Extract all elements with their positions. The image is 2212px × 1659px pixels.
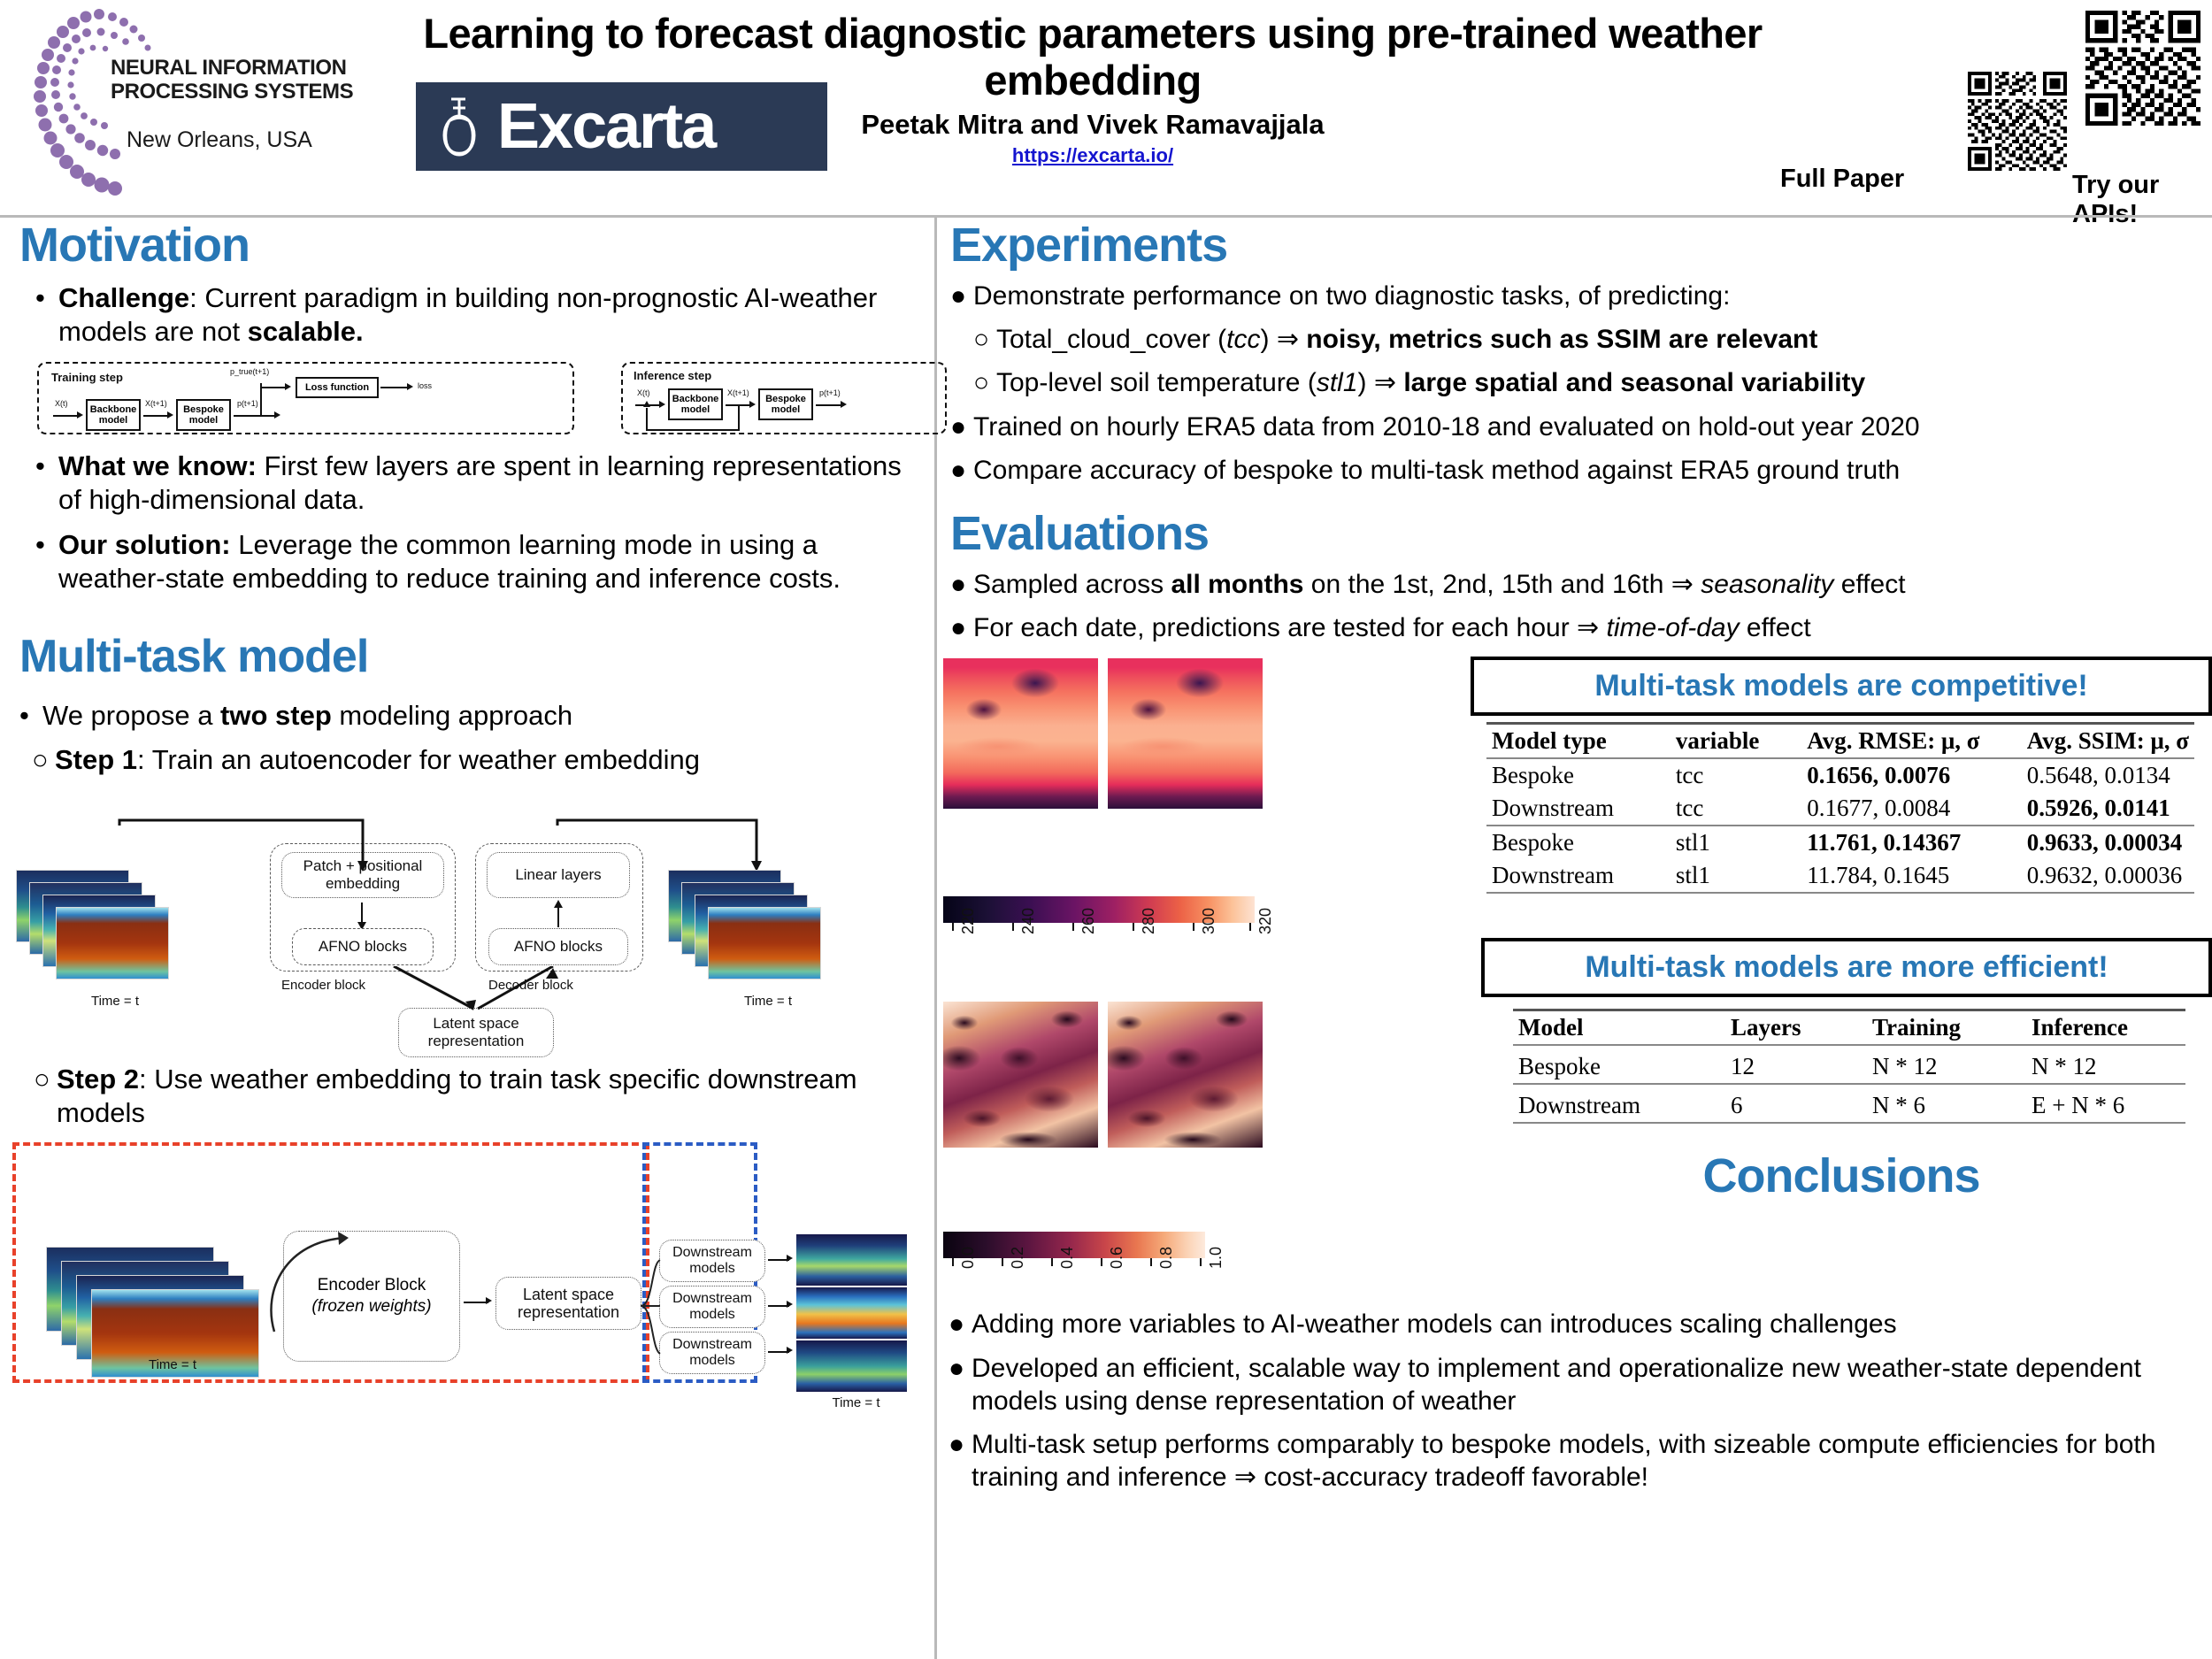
results-table-accuracy: Model type variable Avg. RMSE: μ, σ Avg.… [1486, 722, 2194, 896]
bullet-marker: ○ [973, 323, 996, 356]
bullet-marker: ● [950, 611, 973, 644]
edge-label-xt1: X(t+1) [145, 399, 167, 408]
table-row: Downstream tcc 0.1677, 0.0084 0.5926, 0.… [1486, 792, 2194, 826]
cell-variable: tcc [1671, 792, 1801, 826]
qr-area: Full Paper [1780, 0, 2205, 215]
colorbar-tcc-tick-2: 0.4 [1058, 1247, 1077, 1269]
step2-figure: Time = t Encoder Block (frozen weights) … [0, 1142, 910, 1394]
flow-box-loss-function: Loss function [296, 377, 379, 398]
downstream-model-box-1: Downstream models [659, 1240, 765, 1282]
bullet-italic: time-of-day [1607, 613, 1740, 642]
inference-step-label: Inference step [634, 369, 711, 382]
downstream-output-1 [796, 1234, 907, 1286]
bullet-marker: ● [950, 454, 973, 487]
colorbar-tcc-tick-0: 0.0 [959, 1247, 978, 1269]
bullet-marker: • [19, 699, 42, 733]
motivation-flow-diagram: Training step X(t) Backbone model X(t+1)… [37, 360, 947, 435]
cell-model: Downstream [1486, 792, 1671, 826]
col-training: Training [1867, 1010, 2026, 1046]
cell-inference: E + N * 6 [2026, 1084, 2185, 1123]
autoencoder-figure: Time = t Patch + positional embedding AF… [0, 785, 910, 1050]
col-model: Model [1513, 1010, 1725, 1046]
decoder-afno-blocks-box: AFNO blocks [488, 928, 628, 965]
bullet-rest: : Train an autoencoder for weather embed… [137, 744, 700, 775]
time-label-right: Time = t [688, 994, 848, 1009]
table-header-row: Model Layers Training Inference [1513, 1010, 2185, 1046]
table-row: Bespoke tcc 0.1656, 0.0076 0.5648, 0.013… [1486, 758, 2194, 792]
motivation-bullets-2: • What we know: First few layers are spe… [35, 449, 922, 596]
excarta-wordmark: Excarta [497, 90, 715, 163]
bullet-marker: • [35, 281, 58, 349]
neurips-line2: PROCESSING SYSTEMS [111, 80, 353, 104]
output-image-stack-right [668, 870, 823, 980]
section-heading-multitask: Multi-task model [19, 634, 922, 680]
table-row: Bespoke stl1 11.761, 0.14367 0.9633, 0.0… [1486, 826, 2194, 859]
encoder-afno-blocks-box: AFNO blocks [292, 928, 434, 965]
cell-variable: stl1 [1671, 859, 1801, 893]
table-header-row: Model type variable Avg. RMSE: μ, σ Avg.… [1486, 724, 2194, 759]
tcc-map-ground-truth [943, 1002, 1098, 1148]
bullet-text: Sampled across all months on the 1st, 2n… [973, 568, 2212, 601]
col-ssim: Avg. SSIM: μ, σ [2022, 724, 2194, 759]
time-label-step2-left: Time = t [93, 1357, 252, 1372]
list-item: ● For each date, predictions are tested … [950, 611, 2212, 644]
flow-box-backbone-inf: Backbone model [668, 388, 723, 420]
bullet-text: Adding more variables to AI-weather mode… [972, 1308, 2212, 1340]
list-item: ● Multi-task setup performs comparably t… [949, 1428, 2212, 1494]
table-footer-rule [1513, 1123, 2185, 1126]
bullet-marker: • [35, 528, 58, 596]
motivation-bullets: • Challenge: Current paradigm in buildin… [19, 281, 926, 349]
cell-model: Bespoke [1513, 1045, 1725, 1084]
neurips-city: New Orleans, USA [127, 127, 312, 153]
section-heading-motivation: Motivation [19, 221, 926, 269]
list-item: ● Compare accuracy of bespoke to multi-t… [950, 454, 2212, 487]
qr-code-apis[interactable] [2085, 11, 2200, 126]
edge-label-ptrue: p_true(t+1) [230, 367, 269, 376]
bullet-marker: ● [950, 568, 973, 601]
bullet-text: For each date, predictions are tested fo… [973, 611, 2212, 644]
bullet-text: Top-level soil temperature (stl1) ⇒ larg… [996, 366, 2212, 399]
bullet-marker: • [35, 449, 58, 518]
bullet-marker: ● [949, 1428, 972, 1494]
bullet-bold: Step 1 [55, 744, 137, 775]
list-item: ○ Total_cloud_cover (tcc) ⇒ noisy, metri… [973, 323, 2212, 356]
bullet-bold: Our solution: [58, 529, 231, 560]
cell-layers: 6 [1725, 1084, 1867, 1123]
list-item: • We propose a two step modeling approac… [19, 699, 922, 733]
colorbar-tcc-tick-4: 0.8 [1157, 1247, 1176, 1269]
bullet-text: Challenge: Current paradigm in building … [58, 281, 926, 349]
edge-label-xt1-inf: X(t+1) [727, 388, 749, 397]
list-item: • Challenge: Current paradigm in buildin… [35, 281, 926, 349]
downstream-output-2 [796, 1287, 907, 1339]
recurrence-arrow [257, 1227, 380, 1333]
bullet-pre: Top-level soil temperature ( [996, 368, 1317, 397]
bullet-pre: For each date, predictions are tested fo… [973, 613, 1607, 642]
bullet-bold: two step [220, 700, 332, 731]
time-label-left: Time = t [35, 994, 195, 1009]
edge-label-xt-inf: X(t) [637, 388, 650, 397]
conclusions-bullets: ● Adding more variables to AI-weather mo… [940, 1308, 2212, 1494]
flow-box-bespoke-inf: Bespoke model [758, 388, 813, 420]
cell-variable: tcc [1671, 758, 1801, 792]
colorbar-stl1-tick-5: 320 [1256, 908, 1275, 934]
latent-arrows [265, 966, 655, 1019]
col-layers: Layers [1725, 1010, 1867, 1046]
list-item: ● Adding more variables to AI-weather mo… [949, 1308, 2212, 1340]
col-inference: Inference [2026, 1010, 2185, 1046]
bullet-text: Demonstrate performance on two diagnosti… [973, 280, 2212, 312]
tcc-map-prediction [1108, 1002, 1263, 1148]
table-footer-rule [1486, 893, 2194, 896]
bullet-bold-tail: scalable. [248, 316, 364, 347]
bullet-italic: tcc [1226, 325, 1260, 354]
table-row: Downstream 6 N * 6 E + N * 6 [1513, 1084, 2185, 1123]
cell-rmse: 11.761, 0.14367 [1801, 826, 2021, 859]
neurips-swirl-icon [27, 5, 177, 209]
edge-label-loss: loss [418, 381, 432, 390]
bullet-marker: ● [950, 280, 973, 312]
downstream-model-box-2: Downstream models [659, 1286, 765, 1328]
list-item: ● Trained on hourly ERA5 data from 2010-… [950, 411, 2212, 443]
qr-code-full-paper[interactable] [1968, 72, 2067, 171]
cell-ssim: 0.5648, 0.0134 [2022, 758, 2194, 792]
bullet-pre: Sampled across [973, 570, 1171, 599]
cell-rmse: 11.784, 0.1645 [1801, 859, 2021, 893]
cell-ssim: 0.5926, 0.0141 [2022, 792, 2194, 826]
bullet-bold: Challenge [58, 282, 189, 313]
evaluations-bullets: ● Sampled across all months on the 1st, … [950, 568, 2212, 644]
bullet-marker: ○ [973, 366, 996, 399]
edge-label-pt1-inf: p(t+1) [819, 388, 841, 397]
poster-root: NEURAL INFORMATION PROCESSING SYSTEMS Ne… [0, 0, 2212, 1659]
colorbar-stl1-tick-4: 300 [1200, 908, 1218, 934]
bullet-bold: all months [1171, 570, 1303, 599]
full-paper-label: Full Paper [1780, 165, 1904, 194]
bullet-text: What we know: First few layers are spent… [58, 449, 922, 518]
colorbar-stl1-tick-1: 240 [1019, 908, 1038, 934]
input-image-stack-left [16, 870, 171, 980]
list-item: ● Sampled across all months on the 1st, … [950, 568, 2212, 601]
cell-rmse: 0.1677, 0.0084 [1801, 792, 2021, 826]
bullet-text: Developed an efficient, scalable way to … [972, 1352, 2212, 1417]
col-variable: variable [1671, 724, 1801, 759]
flow-box-backbone-train: Backbone model [86, 399, 141, 431]
cell-model: Bespoke [1486, 758, 1671, 792]
bullet-marker: ● [949, 1352, 972, 1417]
bullet-mid: ) ⇒ [1358, 368, 1404, 397]
bullet-rest: modeling approach [332, 700, 572, 731]
callout-efficient: Multi-task models are more efficient! [1481, 938, 2212, 997]
bullet-text: Step 1: Train an autoencoder for weather… [55, 743, 922, 777]
list-item: ○ Step 1: Train an autoencoder for weath… [32, 743, 922, 777]
col-rmse: Avg. RMSE: μ, σ [1801, 724, 2021, 759]
col-model-type: Model type [1486, 724, 1671, 759]
bullet-bold: Step 2 [57, 1064, 139, 1094]
bullet-post: effect [1740, 613, 1811, 642]
edge-label-pt1: p(t+1) [237, 399, 258, 408]
bullet-text: Total_cloud_cover (tcc) ⇒ noisy, metrics… [996, 323, 2212, 356]
table-row: Bespoke 12 N * 12 N * 12 [1513, 1045, 2185, 1084]
section-heading-experiments: Experiments [950, 221, 2212, 269]
cell-model: Downstream [1486, 859, 1671, 893]
colorbar-stl1-tick-3: 280 [1140, 908, 1158, 934]
results-table-efficiency: Model Layers Training Inference Bespoke … [1513, 1009, 2185, 1126]
left-column: Motivation • Challenge: Current paradigm… [0, 221, 934, 1659]
bullet-italic: seasonality [1701, 570, 1833, 599]
colorbar-stl1-tick-2: 260 [1079, 908, 1098, 934]
list-item: • What we know: First few layers are spe… [35, 449, 922, 518]
step2-bullet-wrap: ○ Step 2: Use weather embedding to train… [34, 1063, 934, 1131]
multitask-bullets: • We propose a two step modeling approac… [19, 699, 922, 778]
header-divider [0, 215, 2212, 218]
bullet-rest: : Use weather embedding to train task sp… [57, 1064, 857, 1128]
neurips-logo: NEURAL INFORMATION PROCESSING SYSTEMS Ne… [27, 5, 380, 209]
list-item: • Our solution: Leverage the common lear… [35, 528, 922, 596]
bullet-text: Multi-task setup performs comparably to … [972, 1428, 2212, 1494]
list-item: ○ Top-level soil temperature (stl1) ⇒ la… [973, 366, 2212, 399]
poster-header: NEURAL INFORMATION PROCESSING SYSTEMS Ne… [0, 0, 2212, 215]
excarta-logo: Excarta [416, 82, 827, 171]
bullet-marker: ○ [34, 1063, 57, 1131]
section-heading-conclusions: Conclusions [1471, 1152, 2212, 1200]
downstream-output-3 [796, 1340, 907, 1392]
bullet-marker: ● [950, 411, 973, 443]
callout-competitive: Multi-task models are competitive! [1471, 657, 2212, 716]
flow-box-bespoke-train: Bespoke model [176, 399, 231, 431]
neurips-line1: NEURAL INFORMATION [111, 56, 347, 81]
colorbar-stl1-tick-0: 220 [959, 908, 978, 934]
bullet-pre: Total_cloud_cover ( [996, 325, 1226, 354]
bullet-pre: We propose a [42, 700, 220, 731]
stl1-map-prediction [1108, 658, 1263, 809]
downstream-model-box-3: Downstream models [659, 1332, 765, 1374]
bullet-mid: on the 1st, 2nd, 15th and 16th ⇒ [1303, 570, 1701, 599]
bullet-text: Trained on hourly ERA5 data from 2010-18… [973, 411, 2212, 443]
experiments-bullets: ● Demonstrate performance on two diagnos… [950, 280, 2212, 487]
bullet-marker: ○ [32, 743, 55, 777]
list-item: ● Demonstrate performance on two diagnos… [950, 280, 2212, 312]
bullet-text: Compare accuracy of bespoke to multi-tas… [973, 454, 2212, 487]
cell-model: Downstream [1513, 1084, 1725, 1123]
training-step-label: Training step [51, 371, 123, 384]
cell-ssim: 0.9632, 0.00036 [2022, 859, 2194, 893]
colorbar-tcc-tick-5: 1.0 [1207, 1247, 1225, 1269]
bullet-bold: What we know: [58, 450, 257, 481]
section-heading-evaluations: Evaluations [950, 510, 2212, 557]
excarta-flask-icon [430, 95, 495, 158]
bullet-bold: noisy, metrics such as SSIM are relevant [1306, 325, 1817, 354]
time-label-step2-right: Time = t [801, 1395, 911, 1410]
bullet-mid: ) ⇒ [1261, 325, 1307, 354]
bullet-bold: large spatial and seasonal variability [1403, 368, 1865, 397]
cell-training: N * 6 [1867, 1084, 2026, 1123]
list-item: ● Developed an efficient, scalable way t… [949, 1352, 2212, 1417]
cell-model: Bespoke [1486, 826, 1671, 859]
bullet-italic: stl1 [1317, 368, 1358, 397]
bullet-text: Our solution: Leverage the common learni… [58, 528, 922, 596]
cell-layers: 12 [1725, 1045, 1867, 1084]
cell-ssim: 0.9633, 0.00034 [2022, 826, 2194, 859]
cell-inference: N * 12 [2026, 1045, 2185, 1084]
list-item: ○ Step 2: Use weather embedding to train… [34, 1063, 934, 1131]
table-row: Downstream stl1 11.784, 0.1645 0.9632, 0… [1486, 859, 2194, 893]
cell-training: N * 12 [1867, 1045, 2026, 1084]
cell-variable: stl1 [1671, 826, 1801, 859]
bullet-post: effect [1833, 570, 1905, 599]
cell-rmse: 0.1656, 0.0076 [1801, 758, 2021, 792]
stl1-map-ground-truth [943, 658, 1098, 809]
latent-space-box-step2: Latent space representation [495, 1277, 641, 1330]
results-region: 220 240 260 280 300 320 0.0 0.2 0.4 0.6 … [940, 657, 2212, 1294]
bullet-text: We propose a two step modeling approach [42, 699, 922, 733]
input-image-stack-step2 [46, 1247, 267, 1375]
colorbar-tcc-tick-3: 0.6 [1108, 1247, 1126, 1269]
right-column: Experiments ● Demonstrate performance on… [940, 221, 2212, 1659]
colorbar-tcc-tick-1: 0.2 [1009, 1247, 1027, 1269]
bullet-marker: ● [949, 1308, 972, 1340]
edge-label-xt: X(t) [55, 399, 68, 408]
bullet-text: Step 2: Use weather embedding to train t… [57, 1063, 934, 1131]
fanout-arrows [634, 1235, 669, 1381]
